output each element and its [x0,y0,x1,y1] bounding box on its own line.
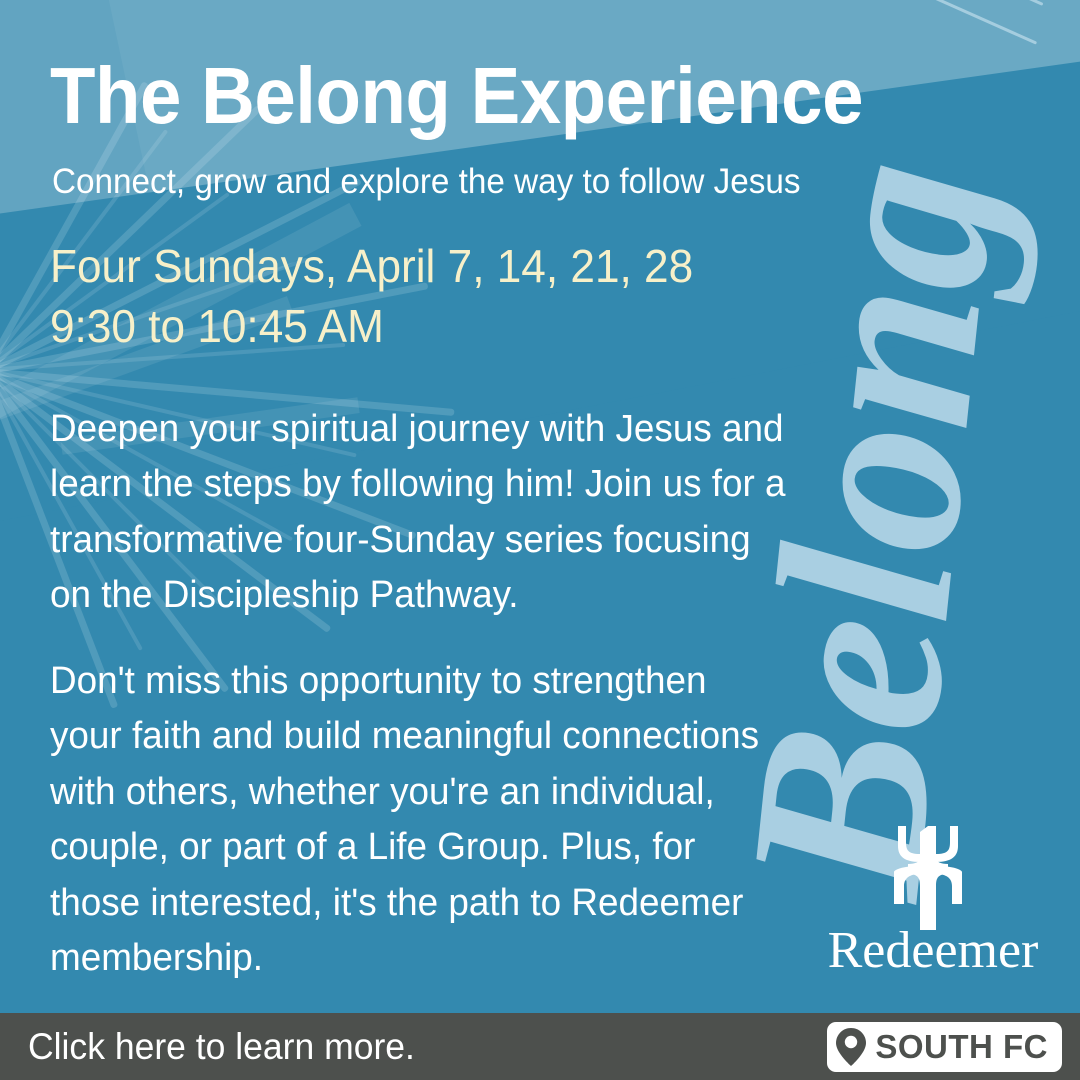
body-paragraph-2: Don't miss this opportunity to strengthe… [50,654,787,987]
south-fc-label: SOUTH FC [875,1030,1048,1063]
belong-experience-poster: Belong The Belong Experience Connect, gr… [0,0,1080,1080]
body-copy: Deepen your spiritual journey with Jesus… [50,402,787,987]
page-title: The Belong Experience [50,56,863,136]
schedule-block: Four Sundays, April 7, 14, 21, 28 9:30 t… [50,237,693,357]
body-paragraph-1: Deepen your spiritual journey with Jesus… [50,402,787,624]
redeemer-logo: Redeemer [818,812,1048,992]
poster-content: The Belong Experience Connect, grow and … [0,0,1080,1013]
schedule-time: 9:30 to 10:45 AM [50,297,693,357]
learn-more-link[interactable]: Click here to learn more. [28,1028,415,1065]
south-fc-badge[interactable]: SOUTH FC [827,1022,1062,1072]
redeemer-wordmark: Redeemer [818,925,1048,977]
cross-icon [868,812,988,932]
map-pin-icon [835,1027,867,1067]
page-subtitle: Connect, grow and explore the way to fol… [52,163,801,202]
footer-bar: Click here to learn more. SOUTH FC [0,1013,1080,1080]
schedule-dates: Four Sundays, April 7, 14, 21, 28 [50,237,693,297]
